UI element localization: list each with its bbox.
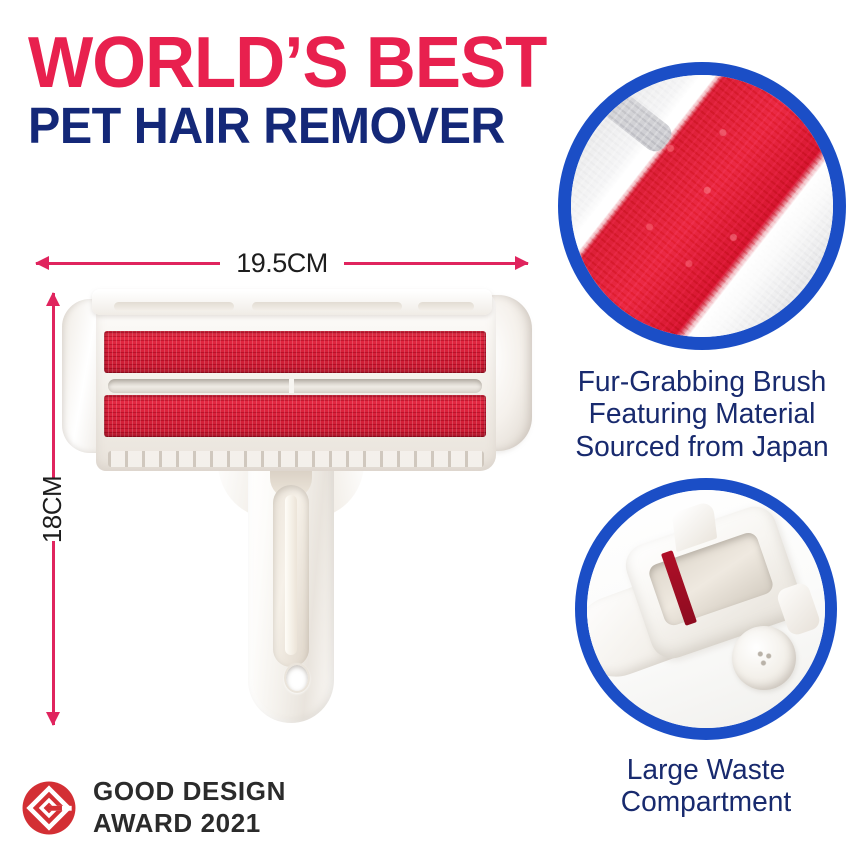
award-line-1: GOOD DESIGN: [93, 776, 286, 808]
roller-top-lip: [92, 289, 492, 315]
brush-macro-photo: [571, 75, 833, 337]
good-design-g-mark-icon: [22, 781, 76, 835]
headline-primary: WORLD’S BEST: [28, 30, 508, 96]
roller-head: [62, 283, 532, 473]
height-arrow-top: [52, 293, 55, 478]
feature-large-waste-compartment: Large Waste Compartment: [566, 478, 846, 819]
award-text-block: GOOD DESIGN AWARD 2021: [93, 776, 286, 839]
brush-band-lower: [104, 395, 486, 437]
waste-photo-end-cap: [732, 626, 796, 690]
good-design-award-badge: GOOD DESIGN AWARD 2021: [22, 776, 286, 839]
lip-slot-right: [418, 302, 474, 311]
award-line-2: AWARD 2021: [93, 808, 286, 840]
brush-band-upper: [104, 331, 486, 373]
feature-brush-caption-line3: Sourced from Japan: [557, 431, 848, 463]
width-dimension: 19.5CM: [36, 245, 528, 281]
brush-macro-fibers: [571, 75, 833, 337]
waste-compartment-photo: [587, 490, 825, 728]
product-photo: [62, 283, 542, 743]
feature-brush-caption-line2: Featuring Material: [557, 398, 848, 430]
width-arrow-left: [36, 262, 220, 265]
lip-slot-left: [114, 302, 234, 311]
roller-housing: [96, 291, 496, 471]
roller-center-groove: [108, 379, 482, 393]
waste-photo-knob: [775, 581, 822, 637]
handle-rib: [285, 495, 297, 655]
headline-secondary: PET HAIR REMOVER: [28, 100, 503, 152]
roller-comb-edge: [108, 451, 484, 467]
feature-waste-caption-line2: Compartment: [570, 786, 842, 818]
width-dimension-label: 19.5CM: [220, 248, 344, 279]
width-arrow-right: [344, 262, 528, 265]
feature-brush-caption: Fur-Grabbing Brush Featuring Material So…: [557, 366, 848, 463]
product-handle: [232, 433, 350, 723]
feature-waste-circle-image: [575, 478, 837, 740]
lip-slot-center: [252, 302, 402, 311]
handle-hang-hole: [284, 663, 310, 693]
feature-brush-caption-line1: Fur-Grabbing Brush: [557, 366, 848, 398]
headline-block: WORLD’S BEST PET HAIR REMOVER: [28, 30, 528, 152]
height-arrow-bottom: [52, 541, 55, 726]
feature-waste-caption-line1: Large Waste: [570, 754, 842, 786]
product-infographic: WORLD’S BEST PET HAIR REMOVER 19.5CM 18C…: [0, 0, 856, 860]
feature-fur-grabbing-brush: Fur-Grabbing Brush Featuring Material So…: [552, 62, 852, 463]
feature-brush-circle-image: [558, 62, 846, 350]
feature-waste-caption: Large Waste Compartment: [570, 754, 842, 819]
